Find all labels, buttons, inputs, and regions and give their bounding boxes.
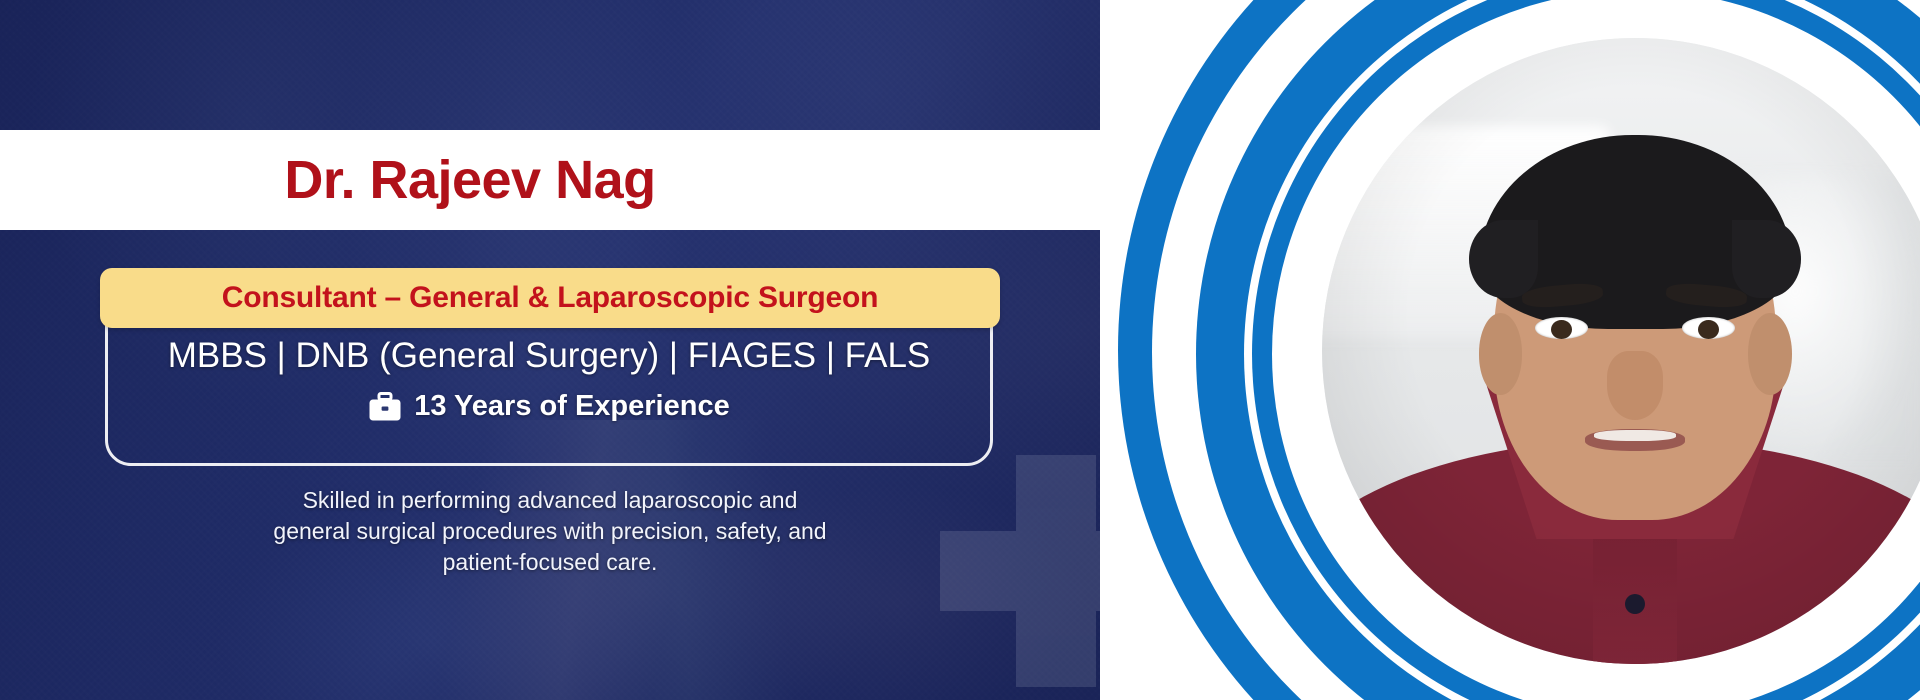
experience-row: 13 Years of Experience	[105, 390, 993, 423]
photo-vignette	[1322, 38, 1920, 664]
doctor-name: Dr. Rajeev Nag	[284, 149, 945, 211]
description-block: Skilled in performing advanced laparosco…	[150, 485, 950, 578]
description-line-1: Skilled in performing advanced laparosco…	[150, 485, 950, 516]
qualifications-line: MBBS | DNB (General Surgery) | FIAGES | …	[105, 336, 993, 376]
designation-text: Consultant – General & Laparoscopic Surg…	[222, 281, 879, 315]
doctor-profile-banner: Dr. Rajeev Nag Consultant – General & La…	[0, 0, 1920, 700]
designation-badge: Consultant – General & Laparoscopic Surg…	[100, 268, 1000, 328]
doctor-photo	[1322, 38, 1920, 664]
portrait-composition	[1100, 0, 1920, 700]
description-line-3: patient-focused care.	[150, 547, 950, 578]
experience-text: 13 Years of Experience	[414, 390, 729, 423]
description-line-2: general surgical procedures with precisi…	[150, 516, 950, 547]
briefcase-icon	[368, 392, 402, 422]
name-band: Dr. Rajeev Nag	[0, 130, 1230, 230]
